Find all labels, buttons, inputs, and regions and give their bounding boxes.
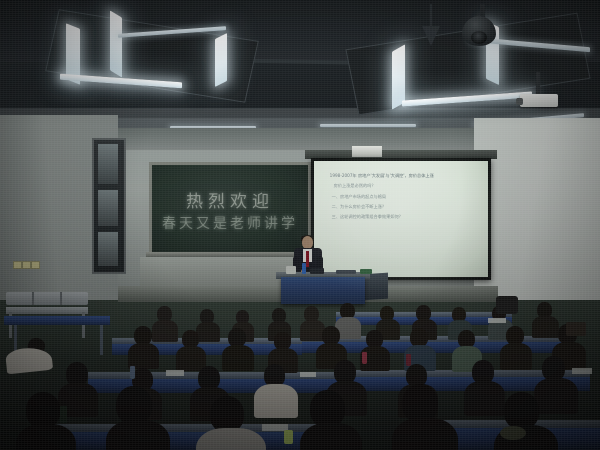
student-body [500,343,532,370]
blackboard-text-line-1: 热烈欢迎 [152,187,308,212]
podium [281,277,365,304]
projector-mount [536,72,540,94]
wall-socket-1[interactable] [13,261,22,269]
student-head [116,386,152,424]
desk-item-laptop [310,268,324,274]
projection-screen: 1998-2007年 房地产'大发展'与'大调控'，房价总体上涨 房价上涨是必然… [311,158,491,280]
screen-roller-housing [352,146,382,157]
student-body [464,381,505,416]
ceiling-projector [520,94,558,107]
door-pane-middle [98,190,118,226]
wall-socket-3[interactable] [31,261,40,269]
bench-divider-2 [60,292,62,305]
slide-line: 三、这轮调控的政策组合拳效果如何？ [330,215,480,220]
front-left-desk-leg-2 [100,325,103,355]
water-bottle [60,406,67,423]
blackboard-text-line-2: 春天又是老师讲学 [152,213,308,233]
ceiling-speaker [422,26,440,46]
water-bottle [406,354,411,366]
water-bottle [362,352,367,364]
student-head [402,384,438,422]
fluorescent-tube-2 [110,10,122,77]
fluorescent-tube-5 [215,33,227,87]
water-bottle [130,366,135,379]
desk-item-papers [286,266,296,274]
bench-backrest [6,292,88,305]
slide-line: 1998-2007年 房地产'大发展'与'大调控'，房价总体上涨 [330,174,480,179]
blackboard: 热烈欢迎 春天又是老师讲学 [149,162,311,258]
student-body [300,423,362,450]
desk-item-green-object [360,269,372,274]
slide-line: 一、房地产市场的起点与格局 [330,195,480,200]
bench-seat [6,307,88,314]
paper-sheet [300,372,316,377]
student-body [532,316,559,338]
paper-sheet [572,368,592,374]
student-head [210,396,244,432]
student-head [310,390,345,427]
lecture-hall-photo: 热烈欢迎 春天又是老师讲学 1998-2007年 房地产'大发展'与'大调控'，… [0,0,600,450]
student-body [392,418,458,450]
green-cup [284,430,293,444]
student-head [26,392,60,428]
backpack [566,322,586,336]
student-body [534,378,578,414]
student-body [222,345,254,371]
left-door-frame[interactable] [92,138,126,274]
student-body [152,320,178,342]
projection-screen-surface: 1998-2007年 房地产'大发展'与'大调控'，房价总体上涨 房价上涨是必然… [314,161,488,277]
blackboard-surface: 热烈欢迎 春天又是老师讲学 [152,165,308,255]
student-body [196,322,220,342]
student-head [504,392,539,429]
door-pane-lower [98,232,118,266]
wall-socket-2[interactable] [22,261,31,269]
equipment-box [496,296,518,314]
slide-line: 房价上涨是必然的吗？ [330,184,480,189]
paper-sheet [488,318,506,323]
paper-sheet [166,370,184,376]
student-body [106,420,170,450]
slide-line: 二、为什么房价会不断上涨？ [330,205,480,210]
bench-divider-1 [32,292,34,305]
speaker-mount-stem [430,4,432,28]
presenter-tie [306,251,309,267]
front-left-desk [4,316,110,325]
desk-item-bottle [302,263,306,274]
slide-content: 1998-2007年 房地产'大发展'与'大调控'，房价总体上涨 房价上涨是必然… [330,174,480,225]
fluorescent-tube-rear-2 [320,124,416,127]
projector-lens-icon [516,98,523,105]
metal-bench[interactable] [6,292,88,318]
handbag [500,426,526,440]
dome-security-camera [462,16,496,46]
camera-lens-icon [471,31,487,44]
desk-item-microphone [336,270,356,274]
student-body [16,424,76,450]
door-pane-upper [98,144,118,184]
student-body [254,384,298,418]
desk-row-d [40,432,320,450]
